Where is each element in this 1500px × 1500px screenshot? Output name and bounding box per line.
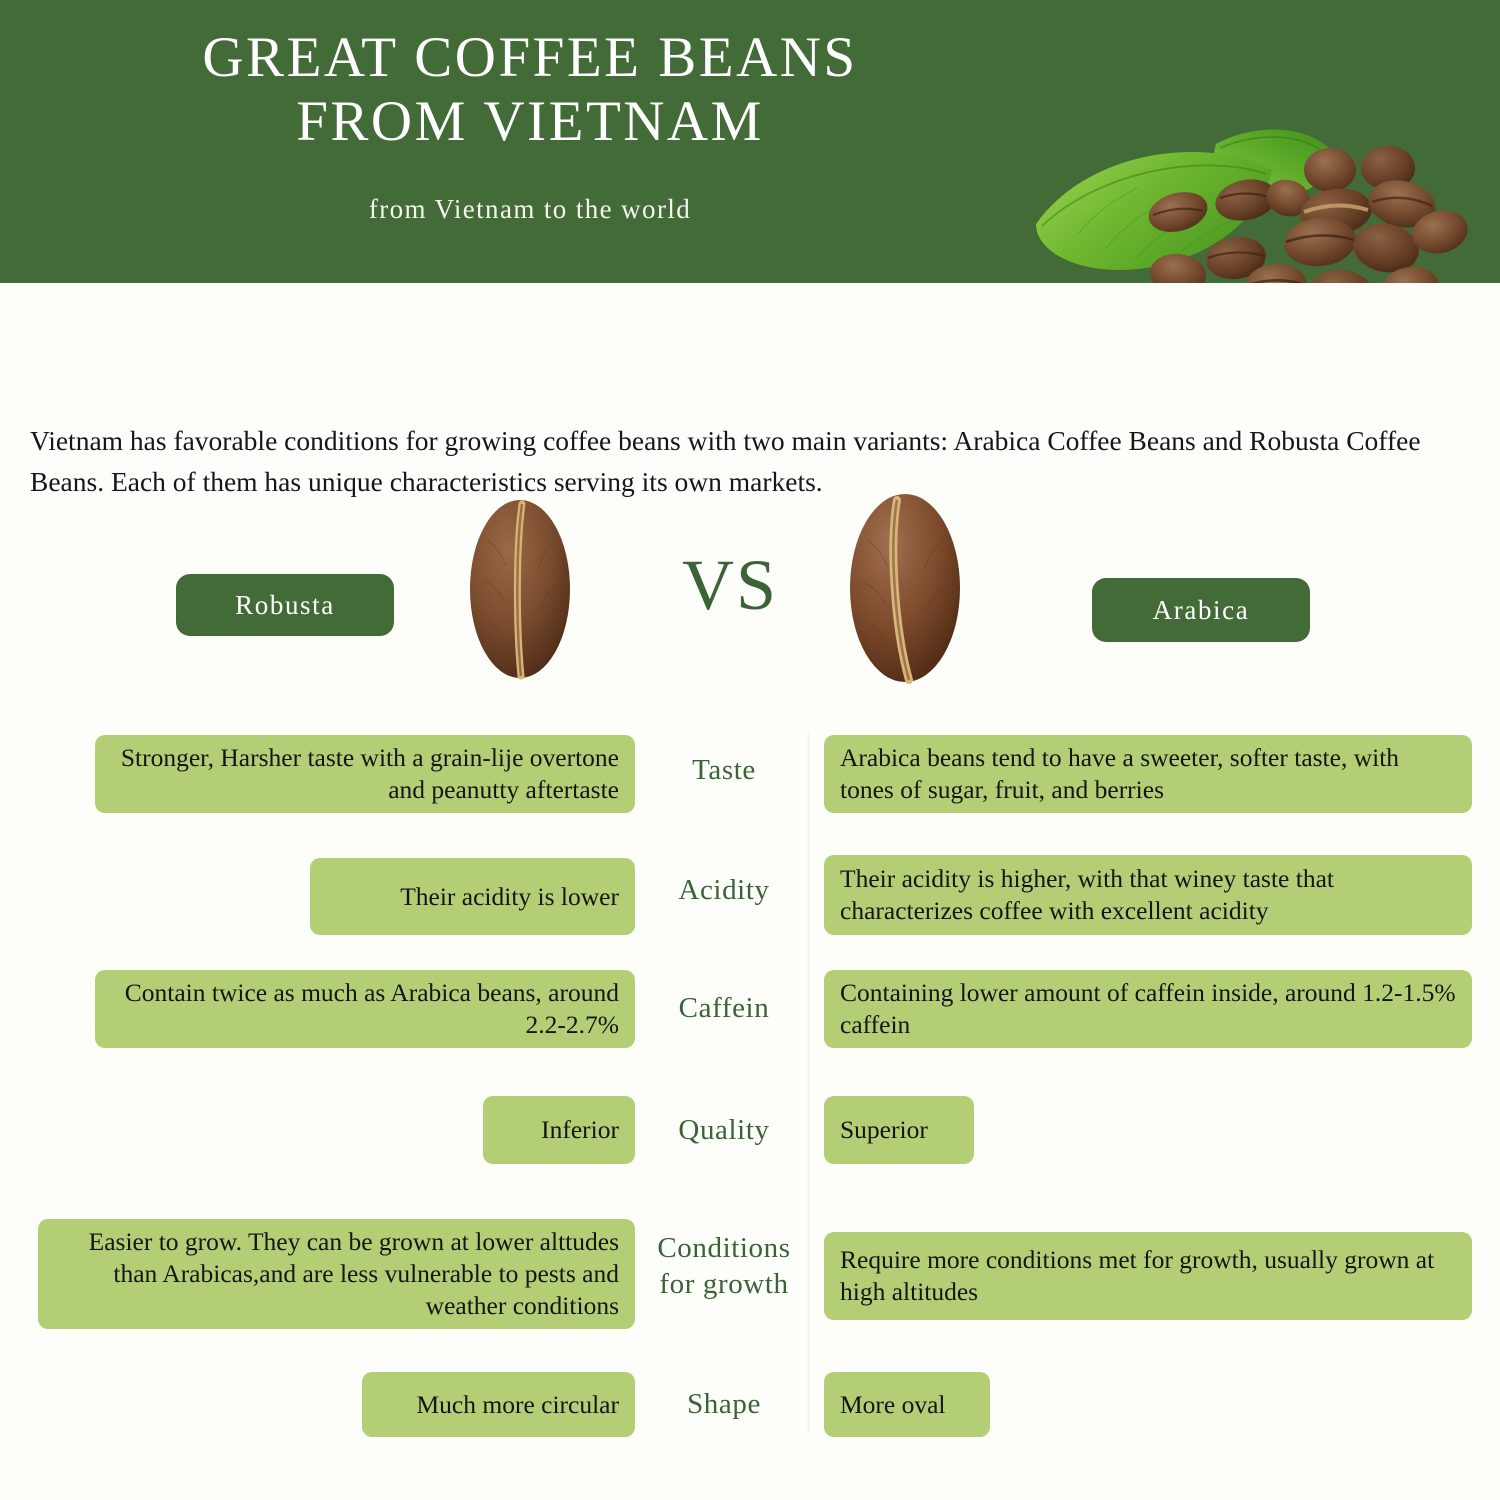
attribute-label-shape: Shape: [638, 1386, 810, 1422]
robusta-cell-acidity: Their acidity is lower: [310, 858, 635, 935]
attribute-label-caffein-line1: Caffein: [638, 990, 810, 1026]
arabica-cell-conditions-for-growth: Require more conditions met for growth, …: [824, 1232, 1472, 1320]
arabica-cell-caffein: Containing lower amount of caffein insid…: [824, 970, 1472, 1048]
robusta-cell-shape: Much more circular: [362, 1372, 635, 1437]
arabica-cell-quality: Superior: [824, 1096, 974, 1164]
arabica-cell-taste: Arabica beans tend to have a sweeter, so…: [824, 735, 1472, 813]
attribute-label-conditions-line1: Conditions: [638, 1230, 810, 1266]
attribute-label-quality: Quality: [638, 1112, 810, 1148]
attribute-label-acidity-line1: Acidity: [638, 872, 810, 908]
arabica-cell-acidity: Their acidity is higher, with that winey…: [824, 855, 1472, 935]
attribute-label-conditions-line2: for growth: [638, 1266, 810, 1302]
attribute-label-caffein: Caffein: [638, 990, 810, 1026]
robusta-cell-taste: Stronger, Harsher taste with a grain-lij…: [95, 735, 635, 813]
robusta-cell-conditions-for-growth: Easier to grow. They can be grown at low…: [38, 1219, 635, 1329]
attribute-label-quality-line1: Quality: [638, 1112, 810, 1148]
attribute-label-taste: Taste: [638, 752, 810, 788]
attribute-label-acidity: Acidity: [638, 872, 810, 908]
attribute-label-shape-line1: Shape: [638, 1386, 810, 1422]
attribute-label-conditions-for-growth: Conditions for growth: [638, 1230, 810, 1302]
comparison-table: Stronger, Harsher taste with a grain-lij…: [0, 0, 1500, 1500]
attribute-label-taste-line1: Taste: [638, 752, 810, 788]
robusta-cell-quality: Inferior: [483, 1096, 635, 1164]
robusta-cell-caffein: Contain twice as much as Arabica beans, …: [95, 970, 635, 1048]
arabica-cell-shape: More oval: [824, 1372, 990, 1437]
